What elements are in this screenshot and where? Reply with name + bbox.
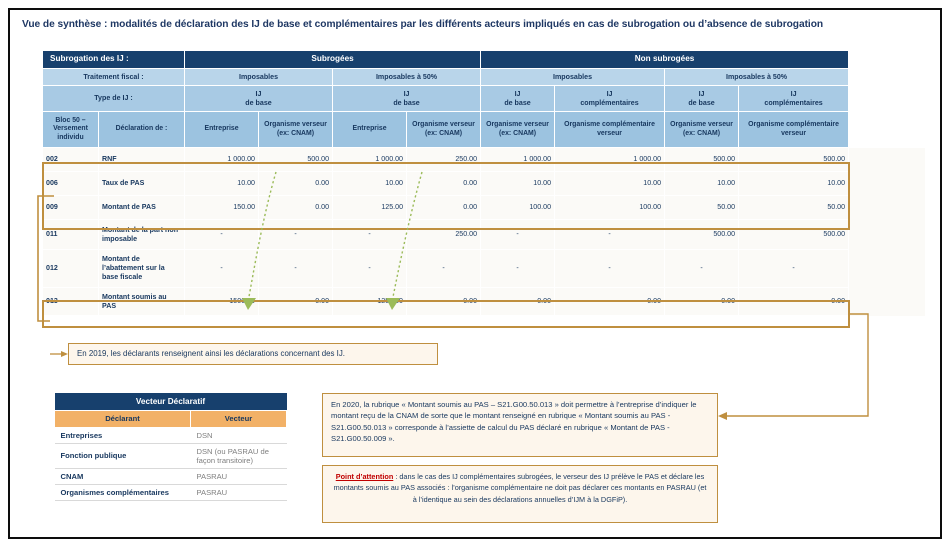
row-label: Taux de PAS bbox=[99, 172, 185, 196]
vecteur-header-vecteur: Vecteur bbox=[191, 410, 287, 427]
vecteur-value: DSN bbox=[191, 427, 287, 443]
header-declarant-1: Entreprise bbox=[185, 112, 259, 148]
header-declaration-de: Déclaration de : bbox=[99, 112, 185, 148]
cell-value: 1 000.00 bbox=[333, 148, 407, 172]
row-label: Montant soumis au PAS bbox=[99, 288, 185, 316]
type-line1: IJ bbox=[256, 90, 262, 98]
row-code: 002 bbox=[43, 148, 99, 172]
cell-value: 10.00 bbox=[665, 172, 739, 196]
header-declarant-4: Organisme verseur (ex: CNAM) bbox=[407, 112, 481, 148]
spacer-cell bbox=[849, 250, 925, 288]
cell-value: 1 000.00 bbox=[481, 148, 555, 172]
header-declarant-6: Organisme complémentaire verseur bbox=[555, 112, 665, 148]
cell-value: 1 000.00 bbox=[555, 148, 665, 172]
header-type-1: IJ de base bbox=[185, 86, 333, 112]
row-label: Montant de la part non imposable bbox=[99, 220, 185, 250]
table-header-row-type: Type de IJ : IJ de base IJ de base IJ de… bbox=[43, 86, 925, 112]
row-label: RNF bbox=[99, 148, 185, 172]
cell-value: 1 000.00 bbox=[185, 148, 259, 172]
row-code: 013 bbox=[43, 288, 99, 316]
header-declarant-7: Organisme verseur (ex: CNAM) bbox=[665, 112, 739, 148]
spacer-cell bbox=[849, 172, 925, 196]
header-group-non-subrogees: Non subrogées bbox=[481, 51, 849, 69]
spacer-cell bbox=[849, 112, 925, 148]
vecteur-header-row: Déclarant Vecteur bbox=[55, 410, 287, 427]
header-traitement-1: Imposables bbox=[185, 69, 333, 86]
cell-value: 10.00 bbox=[185, 172, 259, 196]
cell-value: 250.00 bbox=[407, 148, 481, 172]
spacer-cell bbox=[849, 69, 925, 86]
cell-value: 0.00 bbox=[407, 196, 481, 220]
cell-value: 500.00 bbox=[739, 148, 849, 172]
cell-value: 0.00 bbox=[407, 172, 481, 196]
cell-value: 50.00 bbox=[739, 196, 849, 220]
vecteur-declarant: Entreprises bbox=[55, 427, 191, 443]
cell-value: - bbox=[407, 250, 481, 288]
row013-to-note2020-connector bbox=[726, 314, 868, 416]
cell-value: 0.00 bbox=[665, 288, 739, 316]
cell-value: 0.00 bbox=[259, 196, 333, 220]
note-2020-box: En 2020, la rubrique « Montant soumis au… bbox=[322, 393, 718, 457]
cell-value: - bbox=[185, 220, 259, 250]
header-subrogation-label: Subrogation des IJ : bbox=[43, 51, 185, 69]
header-traitement-4: Imposables à 50% bbox=[665, 69, 849, 86]
cell-value: - bbox=[333, 220, 407, 250]
cell-value: 10.00 bbox=[739, 172, 849, 196]
cell-value: - bbox=[333, 250, 407, 288]
note-2019-text: En 2019, les déclarants renseignent ains… bbox=[77, 348, 345, 360]
table-row: 013 Montant soumis au PAS 1500.00 0.00 1… bbox=[43, 288, 925, 316]
spacer-cell bbox=[849, 148, 925, 172]
header-type-2: IJ de base bbox=[333, 86, 481, 112]
cell-value: 500.00 bbox=[665, 148, 739, 172]
table-header-row-traitement: Traitement fiscal : Imposables Imposable… bbox=[43, 69, 925, 86]
table-row: 006 Taux de PAS 10.00 0.00 10.00 0.00 10… bbox=[43, 172, 925, 196]
type-line2: de base bbox=[393, 99, 419, 107]
type-line1: IJ bbox=[699, 90, 705, 98]
vecteur-row: Fonction publique DSN (ou PASRAU de faço… bbox=[55, 443, 287, 468]
type-line2: de base bbox=[504, 99, 530, 107]
cell-value: - bbox=[259, 220, 333, 250]
note-2019-box: En 2019, les déclarants renseignent ains… bbox=[68, 343, 438, 365]
cell-value: 500.00 bbox=[739, 220, 849, 250]
row-code: 012 bbox=[43, 250, 99, 288]
vecteur-title: Vecteur Déclaratif bbox=[55, 393, 287, 410]
header-declarant-8: Organisme complémentaire verseur bbox=[739, 112, 849, 148]
type-line2: de base bbox=[688, 99, 714, 107]
header-bloc50: Bloc 50 – Versement individu bbox=[43, 112, 99, 148]
table-row: 002 RNF 1 000.00 500.00 1 000.00 250.00 … bbox=[43, 148, 925, 172]
header-type-ij-label: Type de IJ : bbox=[43, 86, 185, 112]
cell-value: 100.00 bbox=[555, 196, 665, 220]
type-line2: de base bbox=[245, 99, 271, 107]
spacer-cell bbox=[849, 288, 925, 316]
vecteur-value: DSN (ou PASRAU de façon transitoire) bbox=[191, 443, 287, 468]
vecteur-value: PASRAU bbox=[191, 484, 287, 500]
note-attention-box: Point d’attention : dans le cas des IJ c… bbox=[322, 465, 718, 523]
row-code: 009 bbox=[43, 196, 99, 220]
header-type-3: IJ de base bbox=[481, 86, 555, 112]
vecteur-row: Organismes complémentaires PASRAU bbox=[55, 484, 287, 500]
cell-value: 0.00 bbox=[481, 288, 555, 316]
header-declarant-5: Organisme verseur (ex: CNAM) bbox=[481, 112, 555, 148]
vecteur-row: Entreprises DSN bbox=[55, 427, 287, 443]
cell-value: 10.00 bbox=[481, 172, 555, 196]
row-label: Montant de l’abattement sur la base fisc… bbox=[99, 250, 185, 288]
cell-value: - bbox=[555, 250, 665, 288]
cell-value: 10.00 bbox=[333, 172, 407, 196]
type-line2: complémentaires bbox=[580, 99, 638, 107]
cell-value: 0.00 bbox=[739, 288, 849, 316]
table-row: 012 Montant de l’abattement sur la base … bbox=[43, 250, 925, 288]
row013-to-note2020-arrow-head bbox=[718, 412, 727, 420]
row-code: 006 bbox=[43, 172, 99, 196]
vecteur-row: CNAM PASRAU bbox=[55, 468, 287, 484]
cell-value: - bbox=[555, 220, 665, 250]
spacer-cell bbox=[849, 51, 925, 69]
note2019-arrow-head bbox=[61, 351, 68, 357]
slide-frame: Vue de synthèse : modalités de déclarati… bbox=[8, 8, 942, 539]
header-declarant-3: Entreprise bbox=[333, 112, 407, 148]
type-line1: IJ bbox=[791, 90, 797, 98]
cell-value: 1500.00 bbox=[185, 288, 259, 316]
vecteur-declaratif-table: Vecteur Déclaratif Déclarant Vecteur Ent… bbox=[54, 393, 287, 501]
cell-value: 250.00 bbox=[407, 220, 481, 250]
cell-value: - bbox=[481, 250, 555, 288]
cell-value: 0.00 bbox=[259, 288, 333, 316]
cell-value: 500.00 bbox=[665, 220, 739, 250]
cell-value: 0.00 bbox=[555, 288, 665, 316]
vecteur-title-row: Vecteur Déclaratif bbox=[55, 393, 287, 410]
cell-value: - bbox=[259, 250, 333, 288]
header-traitement-2: Imposables à 50% bbox=[333, 69, 481, 86]
header-type-5: IJ de base bbox=[665, 86, 739, 112]
row-code: 011 bbox=[43, 220, 99, 250]
spacer-cell bbox=[849, 196, 925, 220]
cell-value: 0.00 bbox=[259, 172, 333, 196]
cell-value: 0.00 bbox=[407, 288, 481, 316]
cell-value: 500.00 bbox=[259, 148, 333, 172]
cell-value: 1250.00 bbox=[333, 288, 407, 316]
type-line2: complémentaires bbox=[764, 99, 822, 107]
header-group-subrogees: Subrogées bbox=[185, 51, 481, 69]
vecteur-header-declarant: Déclarant bbox=[55, 410, 191, 427]
cell-value: - bbox=[739, 250, 849, 288]
cell-value: 50.00 bbox=[665, 196, 739, 220]
type-line1: IJ bbox=[515, 90, 521, 98]
cell-value: - bbox=[665, 250, 739, 288]
synthesis-table: Subrogation des IJ : Subrogées Non subro… bbox=[42, 50, 925, 316]
vecteur-declarant: Organismes complémentaires bbox=[55, 484, 191, 500]
attention-lead: Point d’attention bbox=[336, 472, 394, 481]
table-header-row-declarants: Bloc 50 – Versement individu Déclaration… bbox=[43, 112, 925, 148]
page-title: Vue de synthèse : modalités de déclarati… bbox=[22, 19, 930, 30]
cell-value: 100.00 bbox=[481, 196, 555, 220]
spacer-cell bbox=[849, 220, 925, 250]
type-line1: IJ bbox=[404, 90, 410, 98]
table-row: 011 Montant de la part non imposable - -… bbox=[43, 220, 925, 250]
vecteur-declarant: CNAM bbox=[55, 468, 191, 484]
header-traitement-fiscal-label: Traitement fiscal : bbox=[43, 69, 185, 86]
header-type-6: IJ complémentaires bbox=[739, 86, 849, 112]
header-traitement-3: Imposables bbox=[481, 69, 665, 86]
type-line1: IJ bbox=[607, 90, 613, 98]
vecteur-value: PASRAU bbox=[191, 468, 287, 484]
table-row: 009 Montant de PAS 150.00 0.00 125.00 0.… bbox=[43, 196, 925, 220]
cell-value: 150.00 bbox=[185, 196, 259, 220]
cell-value: 10.00 bbox=[555, 172, 665, 196]
cell-value: 125.00 bbox=[333, 196, 407, 220]
cell-value: - bbox=[481, 220, 555, 250]
vecteur-declarant: Fonction publique bbox=[55, 443, 191, 468]
row-label: Montant de PAS bbox=[99, 196, 185, 220]
cell-value: - bbox=[185, 250, 259, 288]
note-2020-text: En 2020, la rubrique « Montant soumis au… bbox=[331, 400, 696, 443]
spacer-cell bbox=[849, 86, 925, 112]
header-type-4: IJ complémentaires bbox=[555, 86, 665, 112]
table-header-row-subrogation: Subrogation des IJ : Subrogées Non subro… bbox=[43, 51, 925, 69]
header-declarant-2: Organisme verseur (ex: CNAM) bbox=[259, 112, 333, 148]
